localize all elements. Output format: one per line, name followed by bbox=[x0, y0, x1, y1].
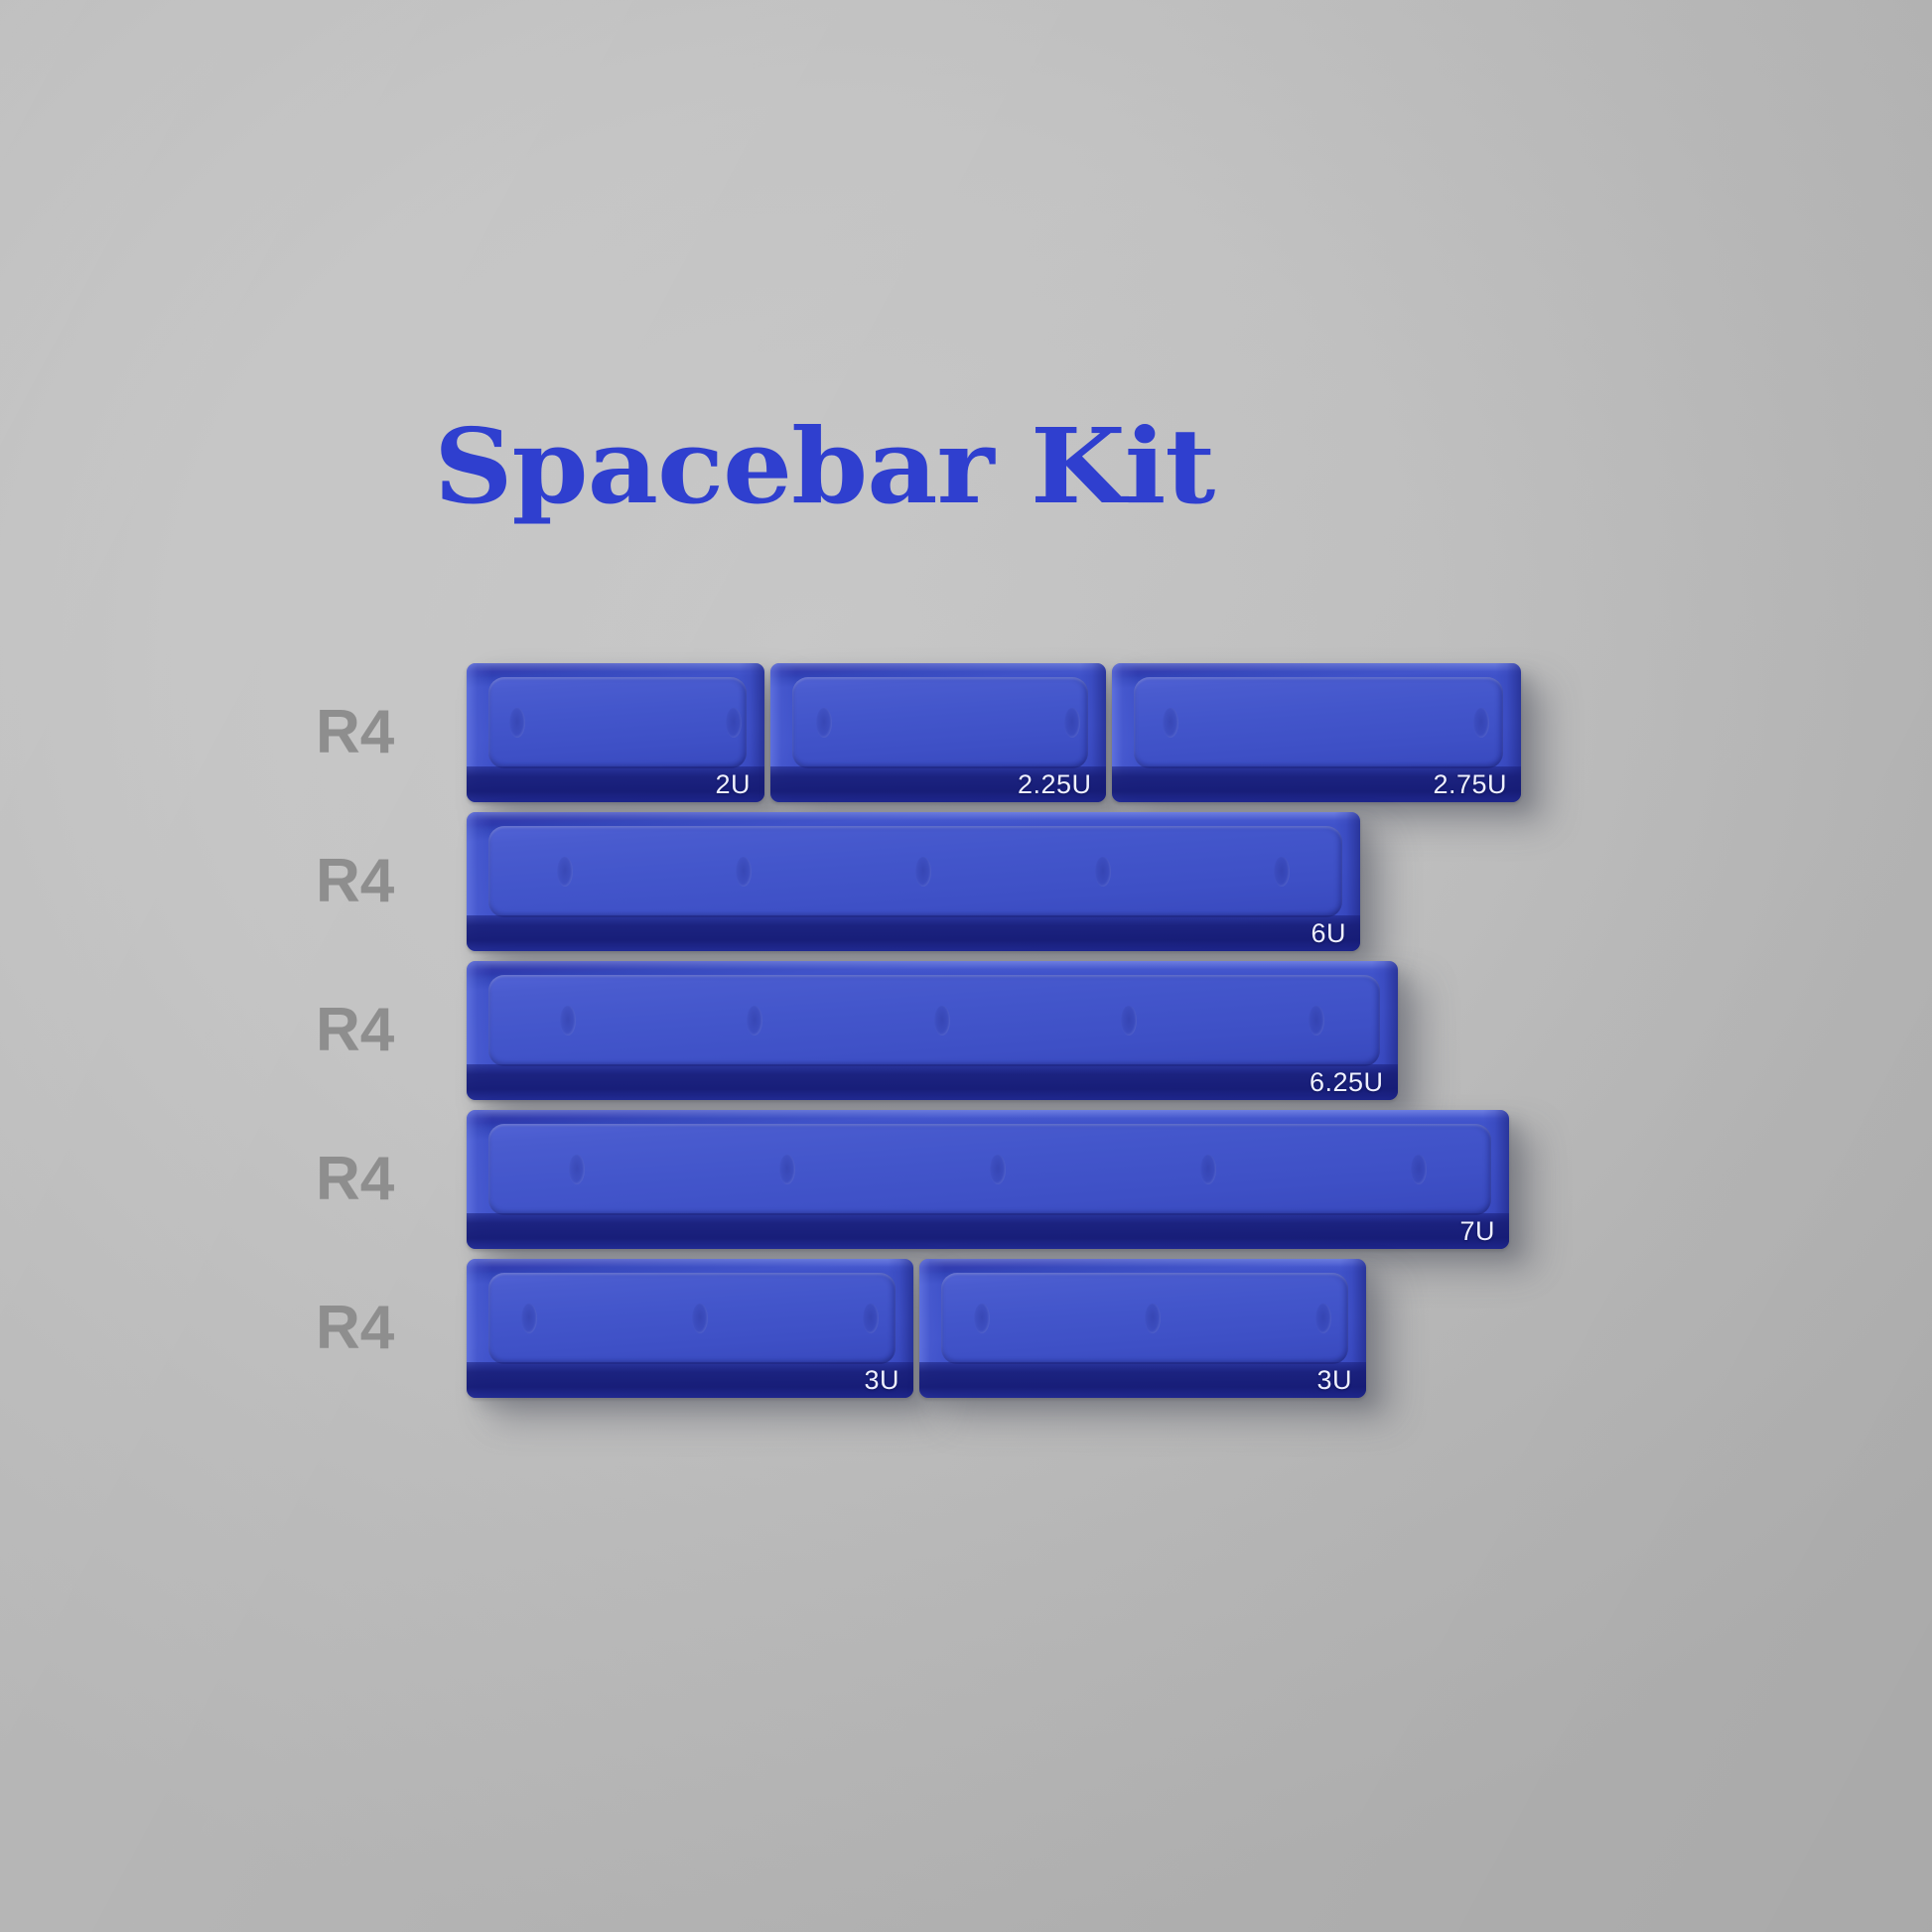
keycap-dimple bbox=[1274, 857, 1290, 887]
keycap-skirt bbox=[467, 915, 1360, 951]
keycap-2u[interactable]: 2U bbox=[467, 663, 764, 802]
row-label-r5: R4 bbox=[316, 1298, 394, 1359]
keycap-skirt bbox=[467, 1362, 913, 1398]
keycap-dimple bbox=[1163, 708, 1178, 738]
keycap-dimple bbox=[1473, 708, 1489, 738]
keycap-lip-top bbox=[770, 663, 1106, 676]
keycap-dimple bbox=[736, 857, 752, 887]
keycap-lip-top bbox=[467, 812, 1360, 825]
keycap-dimple bbox=[521, 1304, 537, 1333]
keycap-3u[interactable]: 3U bbox=[919, 1259, 1366, 1398]
keycap-dimple bbox=[726, 708, 742, 738]
keycap-dimple bbox=[915, 857, 931, 887]
keycap-top-surface bbox=[1134, 677, 1504, 768]
page-title: Spacebar Kit bbox=[434, 415, 1214, 518]
keycap-dimple bbox=[692, 1304, 708, 1333]
keycap-6u[interactable]: 6U bbox=[467, 812, 1360, 951]
keycap-dimple bbox=[816, 708, 832, 738]
keycap-dimple bbox=[1145, 1304, 1161, 1333]
keycap-skirt bbox=[467, 1213, 1509, 1249]
keycap-top-surface bbox=[488, 975, 1380, 1066]
keycap-size-label: 3U bbox=[1316, 1367, 1352, 1394]
keycap-dimple bbox=[1095, 857, 1111, 887]
keycap-6-25u[interactable]: 6.25U bbox=[467, 961, 1398, 1100]
keycap-size-label: 2.25U bbox=[1018, 771, 1092, 798]
keycap-dimple bbox=[1200, 1155, 1216, 1184]
product-render-canvas: Spacebar Kit R4R4R4R4R4 2U2.25U2.75U6U6.… bbox=[0, 0, 1932, 1932]
keycap-size-label: 6.25U bbox=[1310, 1069, 1384, 1096]
keycap-top-surface bbox=[941, 1273, 1348, 1364]
keycap-lip-top bbox=[919, 1259, 1366, 1272]
keycap-top-surface bbox=[488, 826, 1342, 917]
keycap-dimple bbox=[934, 1006, 950, 1035]
keycap-size-label: 6U bbox=[1311, 920, 1346, 947]
keycap-dimple bbox=[509, 708, 525, 738]
keycap-lip-top bbox=[1112, 663, 1522, 676]
row-label-r3: R4 bbox=[316, 1000, 394, 1061]
row-label-r2: R4 bbox=[316, 851, 394, 912]
keycap-dimple bbox=[1309, 1006, 1324, 1035]
keycap-top-surface bbox=[488, 677, 747, 768]
keycap-top-surface bbox=[792, 677, 1088, 768]
keycap-size-label: 3U bbox=[864, 1367, 899, 1394]
keycap-dimple bbox=[557, 857, 573, 887]
keycap-dimple bbox=[1411, 1155, 1427, 1184]
keycap-dimple bbox=[1064, 708, 1080, 738]
keycap-dimple bbox=[747, 1006, 762, 1035]
keycap-lip-top bbox=[467, 961, 1398, 974]
keycap-size-label: 2.75U bbox=[1433, 771, 1507, 798]
keycap-size-label: 2U bbox=[715, 771, 751, 798]
keycap-dimple bbox=[1315, 1304, 1331, 1333]
keycap-skirt bbox=[919, 1362, 1366, 1398]
keycap-2-75u[interactable]: 2.75U bbox=[1112, 663, 1522, 802]
keycap-lip-top bbox=[467, 1110, 1509, 1123]
keycap-dimple bbox=[863, 1304, 879, 1333]
keycap-7u[interactable]: 7U bbox=[467, 1110, 1509, 1249]
keycap-top-surface bbox=[488, 1124, 1491, 1215]
keycap-top-surface bbox=[488, 1273, 896, 1364]
keycap-dimple bbox=[779, 1155, 795, 1184]
keycap-3u[interactable]: 3U bbox=[467, 1259, 913, 1398]
keycap-dimple bbox=[974, 1304, 990, 1333]
keycap-dimple bbox=[1121, 1006, 1137, 1035]
row-label-r1: R4 bbox=[316, 702, 394, 763]
keycap-dimple bbox=[990, 1155, 1006, 1184]
row-label-r4: R4 bbox=[316, 1149, 394, 1210]
keycap-lip-top bbox=[467, 1259, 913, 1272]
keycap-dimple bbox=[569, 1155, 585, 1184]
keycap-size-label: 7U bbox=[1459, 1218, 1495, 1245]
keycap-dimple bbox=[560, 1006, 576, 1035]
keycap-2-25u[interactable]: 2.25U bbox=[770, 663, 1106, 802]
keycap-lip-top bbox=[467, 663, 764, 676]
keycap-skirt bbox=[467, 1064, 1398, 1100]
